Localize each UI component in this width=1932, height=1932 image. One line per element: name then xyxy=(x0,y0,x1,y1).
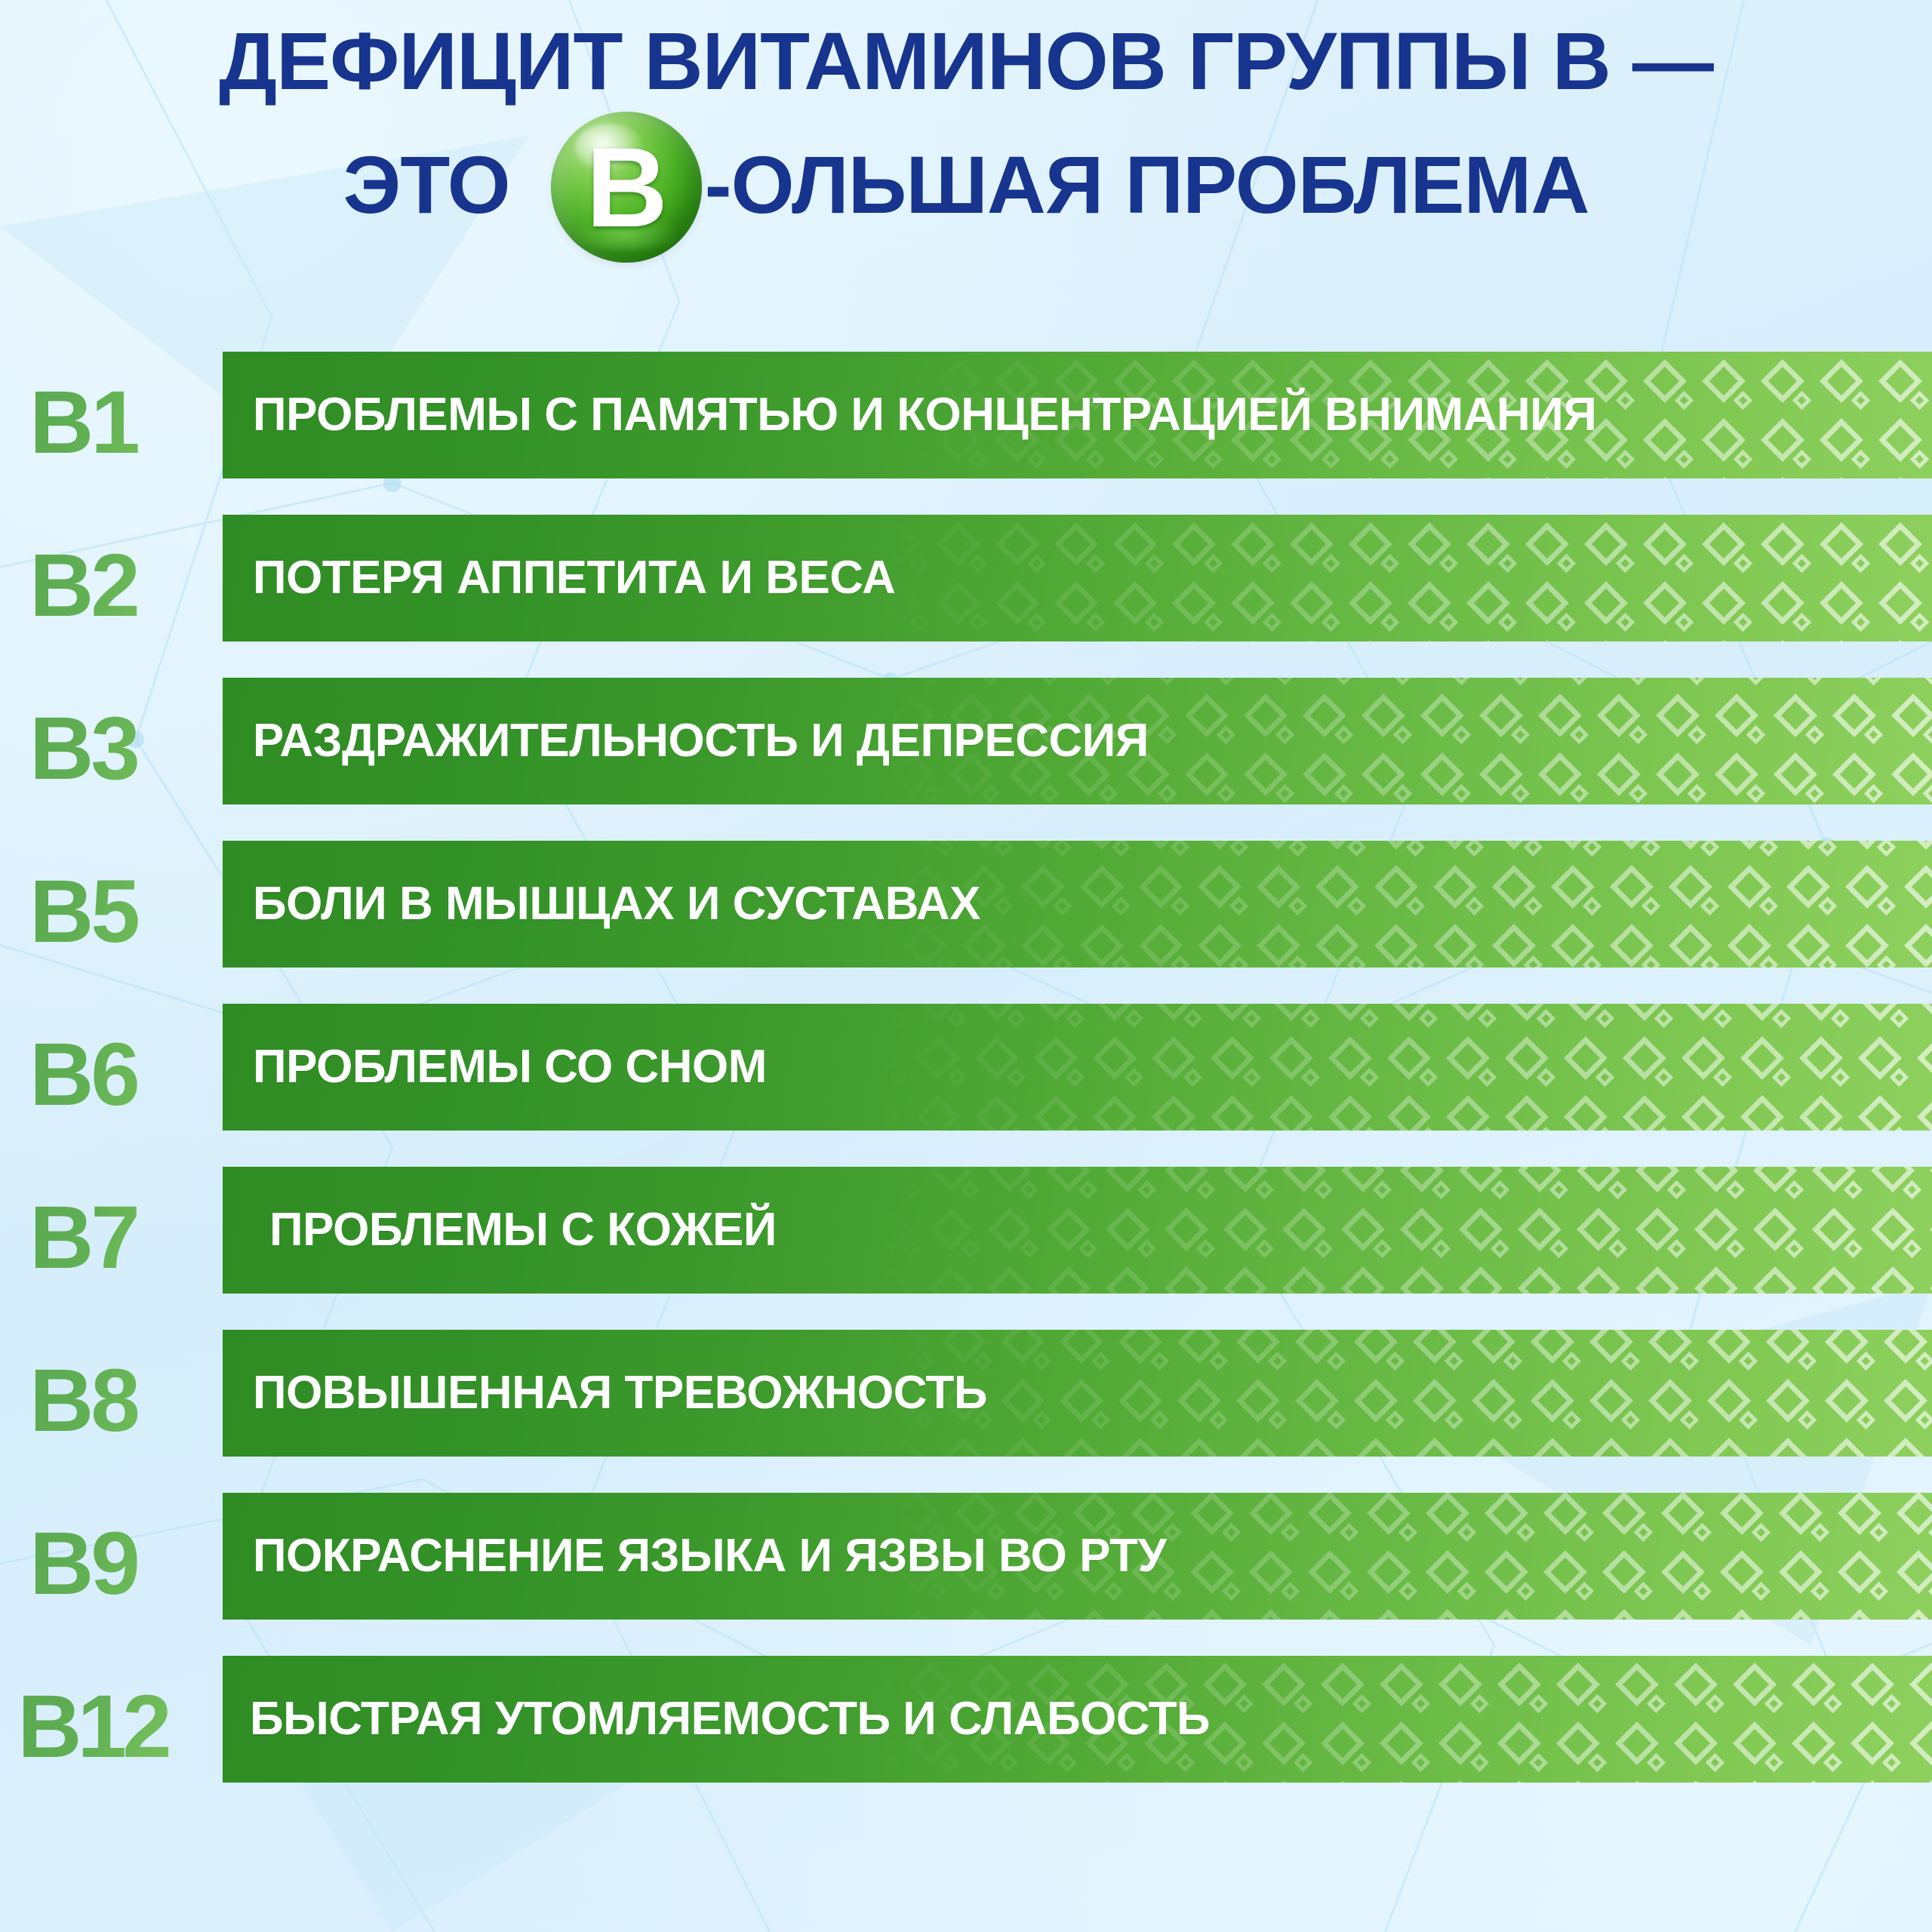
vitamin-label-b8: B8 xyxy=(0,1319,223,1482)
vitamin-label-b9: B9 xyxy=(0,1482,223,1645)
symptom-text-b8: ПОВЫШЕННАЯ ТРЕВОЖНОСТЬ xyxy=(223,1370,987,1417)
title-suffix-text: -ОЛЬШАЯ ПРОБЛЕМА xyxy=(705,143,1589,226)
symptom-text-b1: ПРОБЛЕМЫ С ПАМЯТЬЮ И КОНЦЕНТРАЦИЕЙ ВНИМА… xyxy=(223,392,1596,438)
vitamin-rows-list: B1 ПРОБЛЕМЫ С ПАМЯТЬЮ И КОНЦЕНТРАЦИЕЙ ВН… xyxy=(0,341,1932,1808)
symptom-bar-b12: БЫСТРАЯ УТОМЛЯЕМОСТЬ И СЛАБОСТЬ xyxy=(223,1656,1932,1783)
list-item: B12 БЫСТРАЯ УТОМЛЯЕМОСТЬ И СЛАБОСТЬ xyxy=(0,1645,1932,1808)
symptom-bar-b7: ПРОБЛЕМЫ С КОЖЕЙ xyxy=(223,1167,1932,1294)
green-sphere-b-icon: В xyxy=(551,112,702,263)
list-item: B9 ПОКРАСНЕНИЕ ЯЗЫКА И ЯЗВЫ ВО РТУ xyxy=(0,1482,1932,1645)
symptom-text-b5: БОЛИ В МЫШЦАХ И СУСТАВАХ xyxy=(223,881,980,928)
sphere-letter: В xyxy=(586,131,666,244)
list-item: B6 ПРОБЛЕМЫ СО СНОМ xyxy=(0,993,1932,1156)
list-item: B7 ПРОБЛЕМЫ С КОЖЕЙ xyxy=(0,1156,1932,1319)
symptom-text-b3: РАЗДРАЖИТЕЛЬНОСТЬ И ДЕПРЕССИЯ xyxy=(223,718,1149,764)
symptom-text-b9: ПОКРАСНЕНИЕ ЯЗЫКА И ЯЗВЫ ВО РТУ xyxy=(223,1533,1167,1580)
symptom-text-b7: ПРОБЛЕМЫ С КОЖЕЙ xyxy=(223,1207,777,1254)
title-line-1: ДЕФИЦИТ ВИТАМИНОВ ГРУППЫ В — xyxy=(0,20,1932,103)
symptom-text-b2: ПОТЕРЯ АППЕТИТА И ВЕСА xyxy=(223,555,895,601)
vitamin-label-b12: B12 xyxy=(0,1645,223,1808)
list-item: B3 РАЗДРАЖИТЕЛЬНОСТЬ И ДЕПРЕССИЯ xyxy=(0,667,1932,830)
symptom-bar-b8: ПОВЫШЕННАЯ ТРЕВОЖНОСТЬ xyxy=(223,1330,1932,1457)
symptom-bar-b9: ПОКРАСНЕНИЕ ЯЗЫКА И ЯЗВЫ ВО РТУ xyxy=(223,1493,1932,1620)
vitamin-label-b6: B6 xyxy=(0,993,223,1156)
vitamin-label-b3: B3 xyxy=(0,667,223,830)
symptom-bar-b3: РАЗДРАЖИТЕЛЬНОСТЬ И ДЕПРЕССИЯ xyxy=(223,678,1932,804)
symptom-bar-b2: ПОТЕРЯ АППЕТИТА И ВЕСА xyxy=(223,515,1932,641)
vitamin-label-b2: B2 xyxy=(0,504,223,667)
list-item: B1 ПРОБЛЕМЫ С ПАМЯТЬЮ И КОНЦЕНТРАЦИЕЙ ВН… xyxy=(0,341,1932,504)
list-item: B8 ПОВЫШЕННАЯ ТРЕВОЖНОСТЬ xyxy=(0,1319,1932,1482)
vitamin-label-b5: B5 xyxy=(0,830,223,993)
vitamin-label-b1: B1 xyxy=(0,341,223,504)
list-item: B2 ПОТЕРЯ АППЕТИТА И ВЕСА xyxy=(0,504,1932,667)
symptom-bar-b5: БОЛИ В МЫШЦАХ И СУСТАВАХ xyxy=(223,841,1932,968)
vitamin-label-b7: B7 xyxy=(0,1156,223,1319)
title-prefix-text: ЭТО xyxy=(343,143,510,226)
symptom-bar-b6: ПРОБЛЕМЫ СО СНОМ xyxy=(223,1004,1932,1131)
symptom-text-b6: ПРОБЛЕМЫ СО СНОМ xyxy=(223,1044,767,1091)
symptom-text-b12: БЫСТРАЯ УТОМЛЯЕМОСТЬ И СЛАБОСТЬ xyxy=(223,1696,1210,1743)
symptom-bar-b1: ПРОБЛЕМЫ С ПАМЯТЬЮ И КОНЦЕНТРАЦИЕЙ ВНИМА… xyxy=(223,352,1932,478)
list-item: B5 БОЛИ В МЫШЦАХ И СУСТАВАХ xyxy=(0,830,1932,993)
title-line-2: ЭТО В -ОЛЬШАЯ ПРОБЛЕМА xyxy=(0,107,1932,263)
page-title: ДЕФИЦИТ ВИТАМИНОВ ГРУППЫ В — ЭТО В -ОЛЬШ… xyxy=(0,20,1932,263)
